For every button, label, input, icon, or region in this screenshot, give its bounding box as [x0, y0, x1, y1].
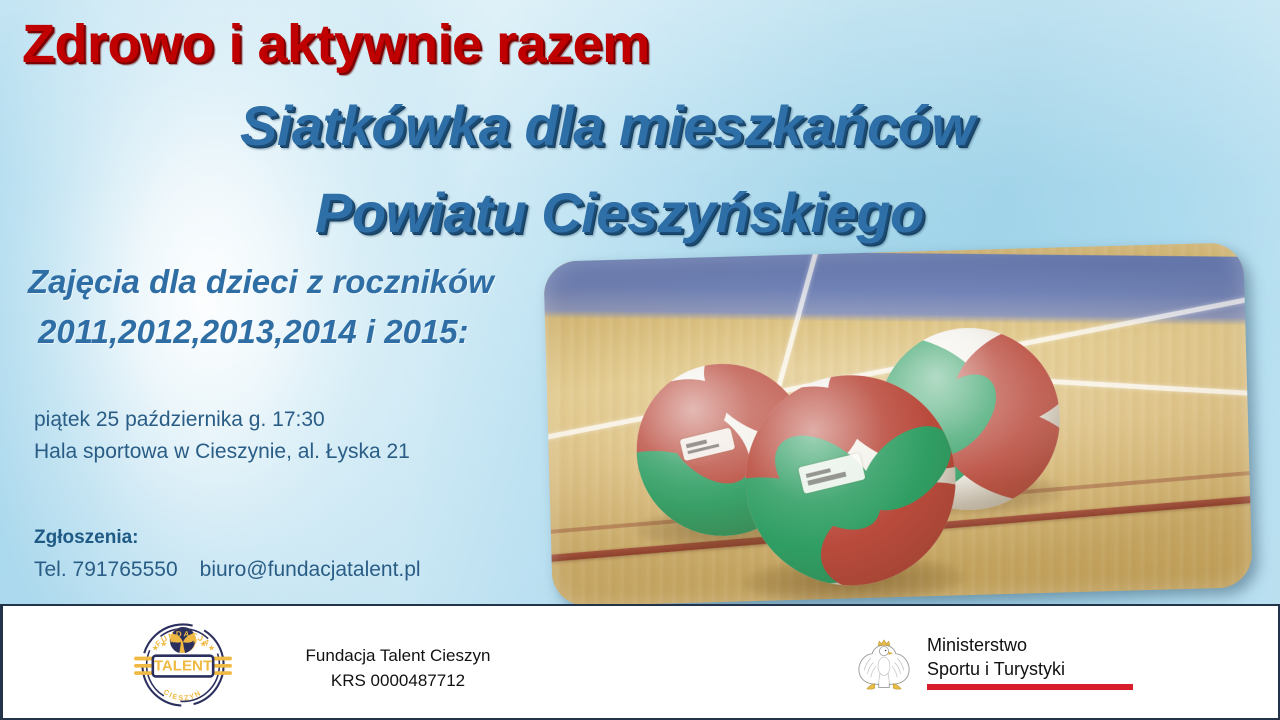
- foundation-krs: KRS 0000487712: [253, 669, 543, 694]
- ministry-name: Ministerstwo Sportu i Turystyki: [927, 634, 1065, 682]
- poster-subtitle-line-1: Siatkówka dla mieszkańców: [240, 93, 974, 158]
- volleyball-photo: [543, 242, 1252, 606]
- foundation-name: Fundacja Talent Cieszyn: [253, 644, 543, 669]
- photo-frame: [543, 242, 1252, 606]
- age-group-line-1: Zajęcia dla dzieci z roczników: [28, 263, 494, 301]
- contact-email[interactable]: biuro@fundacjatalent.pl: [200, 558, 421, 581]
- talent-logo-word: TALENT: [154, 658, 213, 675]
- ministry-red-bar: [927, 684, 1133, 690]
- svg-text:CIESZYN: CIESZYN: [162, 687, 204, 702]
- age-group-line-2: 2011,2012,2013,2014 i 2015:: [38, 313, 469, 351]
- foundation-info: Fundacja Talent Cieszyn KRS 0000487712: [253, 644, 543, 693]
- contact-label: Zgłoszenia:: [34, 527, 139, 549]
- talent-logo-bottom-arc: CIESZYN: [162, 687, 204, 702]
- polish-eagle-icon: [851, 632, 917, 698]
- poster-root: Zdrowo i aktywnie razem Siatkówka dla mi…: [0, 0, 1280, 720]
- poster-headline: Zdrowo i aktywnie razem: [22, 13, 650, 75]
- volleyball: [743, 372, 959, 588]
- poster-subtitle-line-2: Powiatu Cieszyńskiego: [315, 180, 924, 245]
- event-datetime: piątek 25 października g. 17:30: [34, 408, 325, 432]
- ministry-logo-block: Ministerstwo Sportu i Turystyki: [851, 632, 1151, 698]
- contact-phone: Tel. 791765550: [34, 558, 178, 581]
- ministry-line-1: Ministerstwo: [927, 634, 1065, 658]
- ball-label: [798, 453, 866, 494]
- contact-details: Tel. 791765550biuro@fundacjatalent.pl: [34, 558, 421, 582]
- poster-footer: ★★★ ★★★ TALENT FUNDACJA CIESZYN Fundacja…: [0, 604, 1280, 720]
- event-venue: Hala sportowa w Cieszynie, al. Łyska 21: [34, 440, 410, 464]
- talent-logo-icon: ★★★ ★★★ TALENT FUNDACJA CIESZYN: [131, 618, 235, 712]
- ministry-line-2: Sportu i Turystyki: [927, 658, 1065, 682]
